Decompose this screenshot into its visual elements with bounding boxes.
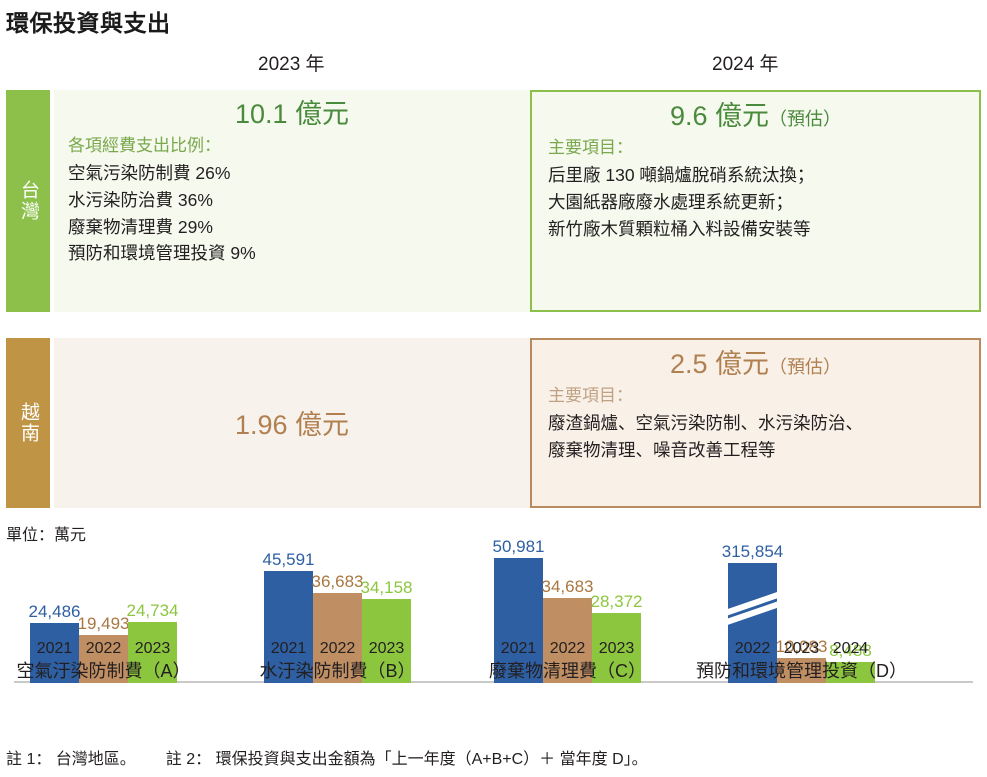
taiwan-2024-subhead: 主要項目： xyxy=(548,136,963,161)
vietnam-2024-amount-row: 2.5 億元（預估） xyxy=(548,348,963,382)
chart-year-tick: 2023 xyxy=(592,640,641,658)
vietnam-2024-amount: 2.5 億元 xyxy=(670,349,769,379)
page-title: 環保投資與支出 xyxy=(6,4,171,38)
taiwan-2023-line-1: 空氣污染防制費 26% xyxy=(68,160,516,187)
chart-group: 45,59136,68334,158202120222023水汙染防制費（B） xyxy=(264,558,411,683)
vietnam-2024-amount-note: （預估） xyxy=(769,357,841,377)
taiwan-2023-line-2: 水污染防治費 36% xyxy=(68,187,516,214)
region-tab-label-taiwan: 台灣 xyxy=(18,180,38,222)
year-header-cur: 2024 年 xyxy=(712,49,779,76)
chart-year-ticks: 202220232024 xyxy=(728,640,875,658)
chart-bar-value-label: 315,854 xyxy=(722,542,783,562)
chart-group: 50,98134,68328,372202120222023廢棄物清理費（C） xyxy=(494,558,641,683)
chart-year-tick: 2021 xyxy=(264,640,313,658)
chart-year-tick: 2022 xyxy=(313,640,362,658)
chart-bar-value-label: 19,493 xyxy=(78,614,130,634)
chart-bar-value-label: 34,158 xyxy=(361,578,413,598)
taiwan-2023-subhead: 各項經費支出比例： xyxy=(68,134,516,159)
taiwan-2023-line-3: 廢棄物清理費 29% xyxy=(68,214,516,241)
chart-group-label: 空氣汙染防制費（A） xyxy=(16,657,190,683)
chart-year-tick: 2022 xyxy=(728,640,777,658)
chart-year-ticks: 202120222023 xyxy=(494,640,641,658)
chart-bar-value-label: 24,734 xyxy=(127,601,179,621)
taiwan-2024-panel: 9.6 億元（預估） 主要項目： 后里廠 130 噸鍋爐脫硝系統汰換； 大園紙器… xyxy=(530,90,981,312)
vietnam-2024-line-2: 廢棄物清理、噪音改善工程等 xyxy=(548,437,963,464)
chart-year-tick: 2023 xyxy=(128,640,177,658)
footnotes: 註 1： 台灣地區。註 2： 環保投資與支出金額為「上一年度（A+B+C）＋ 當… xyxy=(6,745,648,769)
chart-bar-value-label: 24,486 xyxy=(29,602,81,622)
taiwan-2024-amount-note: （預估） xyxy=(769,109,841,129)
chart-group: 315,85410,0838,488202220232024預防和環境管理投資（… xyxy=(728,558,875,683)
taiwan-2024-line-2: 大園紙器廠廢水處理系統更新； xyxy=(548,189,963,216)
infographic-page: 環保投資與支出 2023 年 2024 年 台灣 10.1 億元 各項經費支出比… xyxy=(0,0,987,777)
chart-year-tick: 2021 xyxy=(494,640,543,658)
chart-unit-label: 單位：萬元 xyxy=(6,521,86,545)
vietnam-2023-panel: 1.96 億元 xyxy=(54,338,530,508)
taiwan-2024-amount-row: 9.6 億元（預估） xyxy=(548,100,963,134)
chart-year-tick: 2022 xyxy=(79,640,128,658)
chart-bar-value-label: 28,372 xyxy=(591,592,643,612)
chart-bar-value-label: 34,683 xyxy=(542,577,594,597)
vietnam-2024-line-1: 廢渣鍋爐、空氣污染防制、水污染防治、 xyxy=(548,410,963,437)
chart-group: 24,48619,49324,734202120222023空氣汙染防制費（A） xyxy=(30,558,177,683)
vietnam-2024-panel: 2.5 億元（預估） 主要項目： 廢渣鍋爐、空氣污染防制、水污染防治、 廢棄物清… xyxy=(530,338,981,508)
footnote-1: 註 1： 台灣地區。 xyxy=(6,751,136,768)
taiwan-2023-panel: 10.1 億元 各項經費支出比例： 空氣污染防制費 26% 水污染防治費 36%… xyxy=(54,90,530,312)
region-row-taiwan: 台灣 10.1 億元 各項經費支出比例： 空氣污染防制費 26% 水污染防治費 … xyxy=(6,90,981,312)
chart-year-tick: 2023 xyxy=(362,640,411,658)
chart-year-tick: 2021 xyxy=(30,640,79,658)
chart-year-ticks: 202120222023 xyxy=(30,640,177,658)
chart-group-label: 預防和環境管理投資（D） xyxy=(696,657,907,683)
taiwan-2023-line-4: 預防和環境管理投資 9% xyxy=(68,240,516,267)
taiwan-2024-line-3: 新竹廠木質顆粒桶入料設備安裝等 xyxy=(548,216,963,243)
region-tab-vietnam: 越南 xyxy=(6,338,50,508)
footnote-2: 註 2： 環保投資與支出金額為「上一年度（A+B+C）＋ 當年度 D」。 xyxy=(166,751,648,768)
vietnam-2024-subhead: 主要項目： xyxy=(548,384,963,409)
chart-bar-value-label: 36,683 xyxy=(312,572,364,592)
chart-year-tick: 2024 xyxy=(826,640,875,658)
taiwan-2024-line-1: 后里廠 130 噸鍋爐脫硝系統汰換； xyxy=(548,162,963,189)
chart-year-tick: 2023 xyxy=(777,640,826,658)
chart-group-label: 廢棄物清理費（C） xyxy=(489,657,646,683)
region-tab-taiwan: 台灣 xyxy=(6,90,50,312)
chart-bar-value-label: 45,591 xyxy=(263,550,315,570)
region-row-vietnam: 越南 1.96 億元 2.5 億元（預估） 主要項目： 廢渣鍋爐、空氣污染防制、… xyxy=(6,338,981,508)
chart-year-tick: 2022 xyxy=(543,640,592,658)
chart-group-label: 水汙染防制費（B） xyxy=(259,657,415,683)
bar-chart: 24,48619,49324,734202120222023空氣汙染防制費（A）… xyxy=(0,545,987,730)
vietnam-2023-amount: 1.96 億元 xyxy=(235,403,349,442)
taiwan-2024-amount: 9.6 億元 xyxy=(670,101,769,131)
chart-bar-value-label: 50,981 xyxy=(493,537,545,557)
region-tab-label-vietnam: 越南 xyxy=(18,402,38,444)
chart-year-ticks: 202120222023 xyxy=(264,640,411,658)
year-header-prev: 2023 年 xyxy=(258,49,325,76)
taiwan-2023-amount: 10.1 億元 xyxy=(68,98,516,132)
